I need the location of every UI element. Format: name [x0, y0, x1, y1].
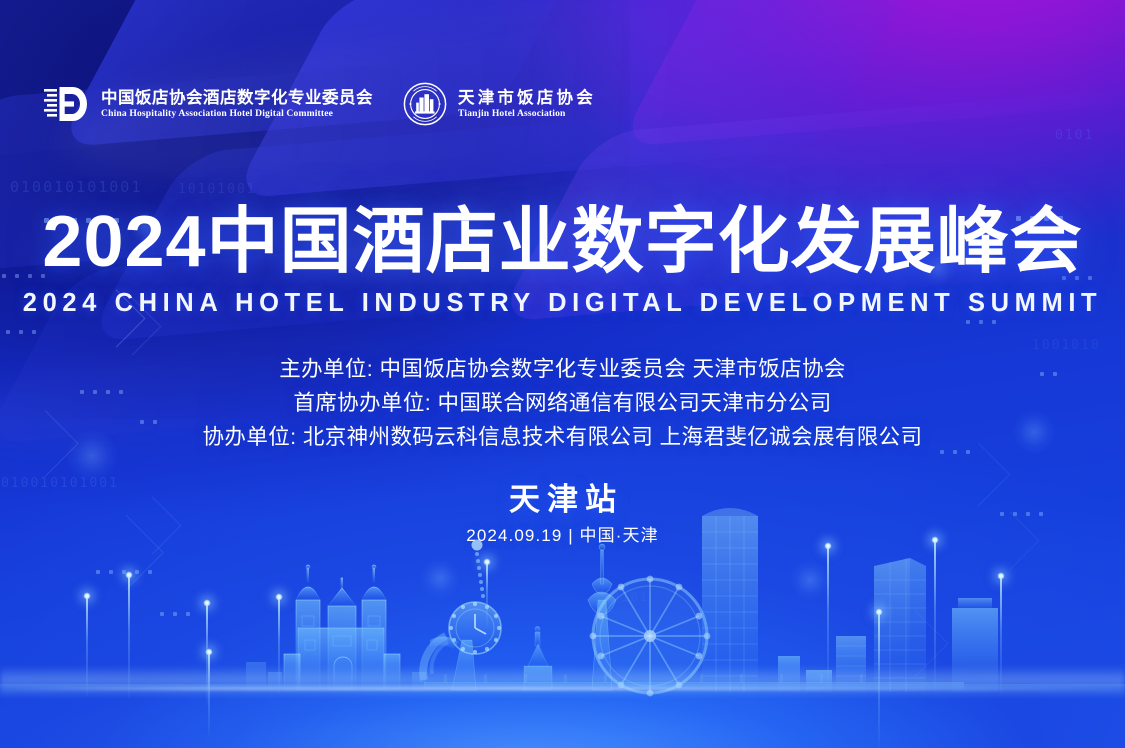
ground-glow	[0, 628, 1125, 748]
header-logos: 中国饭店协会酒店数字化专业委员会 China Hospitality Assoc…	[44, 82, 596, 126]
logo-name-cn: 天津市饭店协会	[458, 90, 596, 107]
logo-china-hospitality-association: 中国饭店协会酒店数字化专业委员会 China Hospitality Assoc…	[44, 84, 373, 124]
summit-title-en: 2024 CHINA HOTEL INDUSTRY DIGITAL DEVELO…	[0, 291, 1125, 317]
conference-poster: 010010101001 10101001 010010101001 0101 …	[0, 0, 1125, 748]
summit-title-cn: 2024中国酒店业数字化发展峰会	[0, 206, 1125, 278]
logo-text-block: 天津市饭店协会 Tianjin Hotel Association	[458, 90, 596, 119]
event-stop-block: 天津站 2024.09.19 | 中国·天津	[0, 484, 1125, 544]
event-city-station: 天津站	[0, 484, 1125, 515]
cha-monogram-icon	[44, 84, 90, 124]
organizers-block: 主办单位: 中国饭店协会数字化专业委员会 天津市饭店协会 首席协办单位: 中国联…	[0, 352, 1125, 454]
logo-name-en: China Hospitality Association Hotel Digi…	[101, 109, 373, 119]
logo-tianjin-hotel-association: 天津市饭店协会 Tianjin Hotel Association	[403, 82, 596, 126]
organizer-line-coorganizers: 协办单位: 北京神州数码云科信息技术有限公司 上海君斐亿诚会展有限公司	[0, 420, 1125, 454]
logo-name-cn: 中国饭店协会酒店数字化专业委员会	[101, 90, 373, 107]
organizer-line-host: 主办单位: 中国饭店协会数字化专业委员会 天津市饭店协会	[0, 352, 1125, 386]
organizer-line-chief-coorganizer: 首席协办单位: 中国联合网络通信有限公司天津市分公司	[0, 386, 1125, 420]
tianjin-seal-icon	[403, 82, 447, 126]
logo-name-en: Tianjin Hotel Association	[458, 109, 596, 119]
event-date-location: 2024.09.19 | 中国·天津	[0, 527, 1125, 544]
logo-text-block: 中国饭店协会酒店数字化专业委员会 China Hospitality Assoc…	[101, 90, 373, 119]
title-block: 2024中国酒店业数字化发展峰会 2024 CHINA HOTEL INDUST…	[0, 206, 1125, 317]
